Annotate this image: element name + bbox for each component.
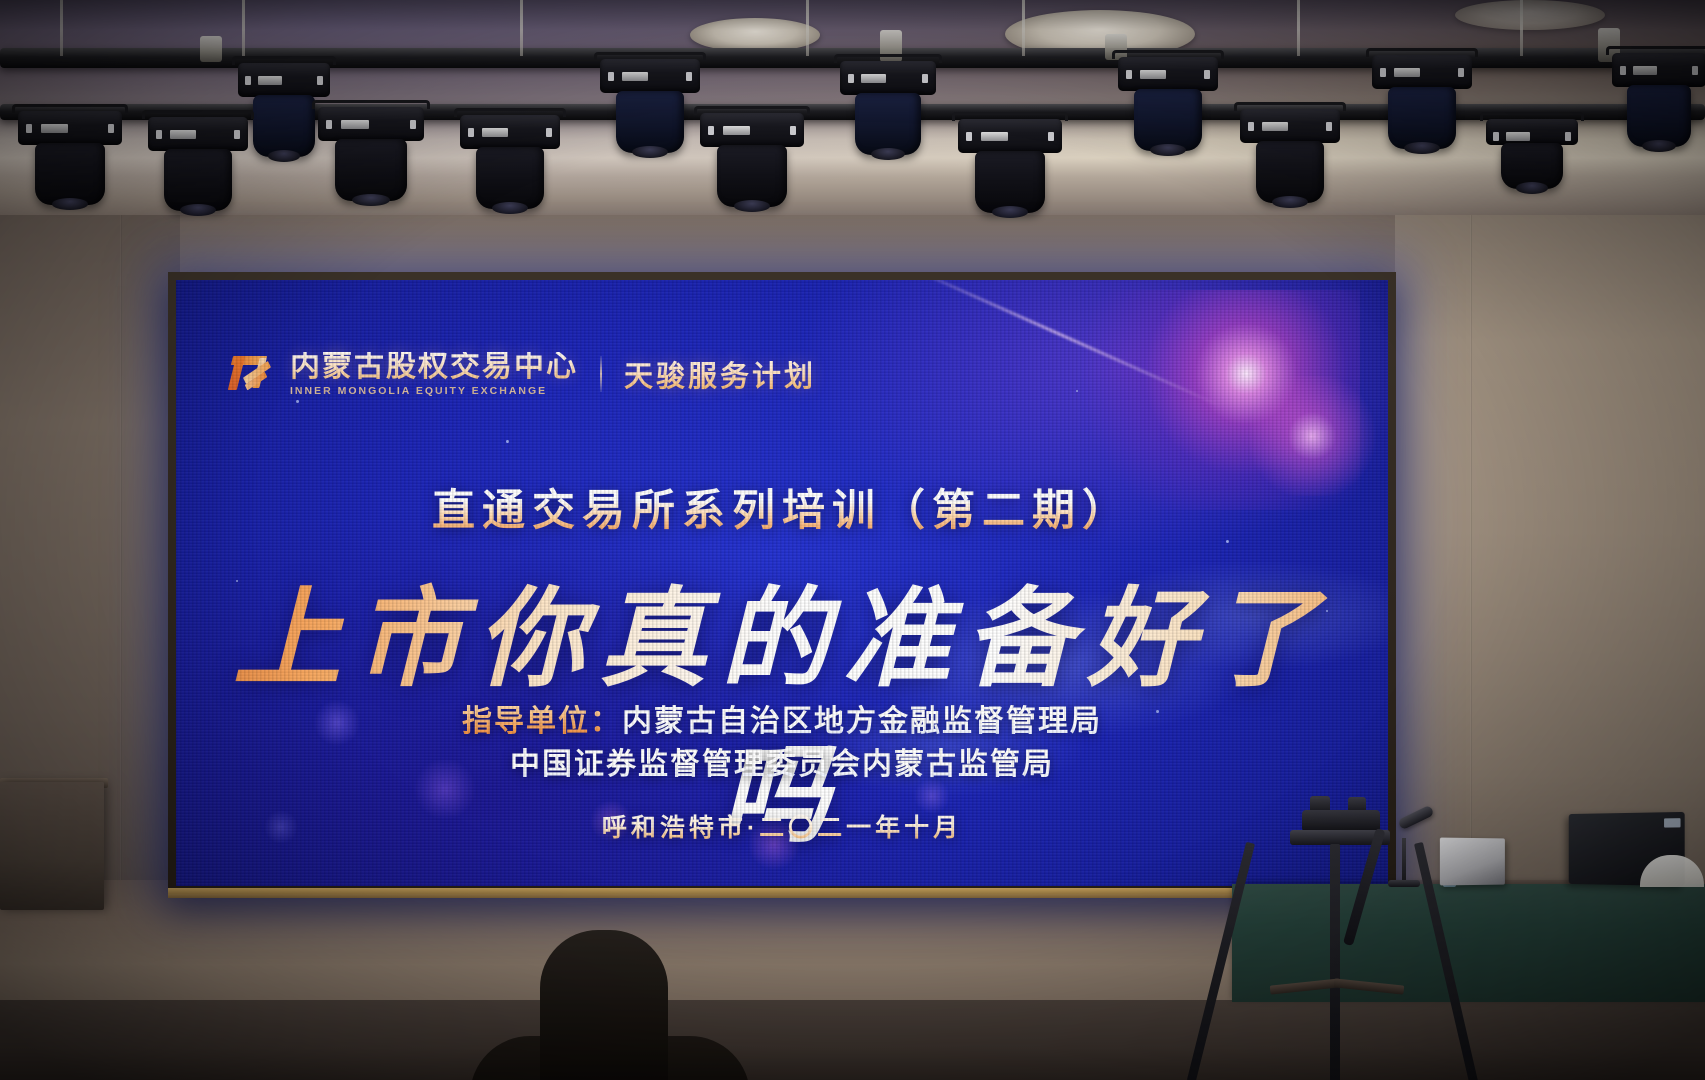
lamp-lens [1516,182,1549,194]
brand-bar: 内蒙古股权交易中心 INNER MONGOLIA EQUITY EXCHANGE… [232,352,816,397]
lamp-head [700,113,804,147]
lamp-body [253,95,316,157]
brand-name-en: INNER MONGOLIA EQUITY EXCHANGE [290,386,578,397]
lamp-display [170,130,196,139]
lamp-lens [1642,140,1675,152]
lamp-knob-left [1493,132,1499,141]
lamp-knob-left [966,132,972,141]
lamp-head [1372,55,1472,89]
lamp-body [1134,89,1202,151]
lamp-body [35,143,106,205]
lamp-body [164,149,232,211]
lamp-lens [1404,142,1439,154]
lamp-knob-right [1692,66,1698,75]
brand-divider [600,356,602,392]
lamp-display [41,124,68,133]
guidance-unit-2: 中国证券监督管理委员会内蒙古监管局 [176,743,1388,786]
lamp-body [1501,143,1564,189]
tripod-pan-handle [1343,828,1386,946]
lamp-knob-left [1126,70,1132,79]
lamp-display [341,120,369,129]
lamp-knob-left [326,120,332,129]
lamp-knob-right [1204,70,1210,79]
screen-content: 内蒙古股权交易中心 INNER MONGOLIA EQUITY EXCHANGE… [176,280,1388,886]
guidance-units: 指导单位：内蒙古自治区地方金融监督管理局 中国证券监督管理委员会内蒙古监管局 [176,700,1388,786]
podium [0,782,104,910]
lamp-body [975,151,1046,213]
lamp-display [1506,132,1530,141]
camera-tripod [1230,810,1450,1080]
hanger-rod-4 [806,0,809,56]
lamp-body [1627,85,1691,147]
lamp-knob-right [1048,132,1054,141]
hanger-rod-2 [242,0,245,56]
lamp-knob-left [1380,68,1386,77]
guidance-line-1: 指导单位：内蒙古自治区地方金融监督管理局 [176,700,1388,743]
lamp-lens [52,198,89,210]
lamp-display [622,72,648,81]
hanger-rod-7 [1520,0,1523,56]
hanger-rod-6 [1297,0,1300,56]
lamp-head [1240,109,1340,143]
lamp-lens [992,206,1029,218]
wall-seam-1 [1470,215,1472,915]
lamp-knob-right [108,124,114,133]
lamp-head [318,107,424,141]
lamp-lens [632,146,667,158]
lamp-head [1486,119,1578,145]
brand-program-name: 天骏服务计划 [624,353,816,395]
lamp-lens [871,148,905,160]
lamp-head [148,117,248,151]
tripod-leg-center [1330,844,1340,1080]
lamp-knob-left [608,72,614,81]
lamp-knob-right [1326,122,1332,131]
lamp-body [476,147,544,209]
lamp-display [1633,66,1657,75]
lamp-head [18,111,122,145]
lamp-knob-left [1248,122,1254,131]
lamp-body [1256,141,1324,203]
lamp-knob-right [686,72,692,81]
lamp-knob-left [26,124,32,133]
lamp-lens [352,194,389,206]
lamp-display [258,76,282,85]
lamp-lens [268,150,301,162]
lamp-display [981,132,1008,141]
lamp-display [1140,70,1166,79]
lamp-lens [734,200,771,212]
tripod-head [1302,810,1380,832]
lamp-head [460,115,560,149]
hanger-rod-3 [520,0,523,56]
screen-gold-trim [168,888,1396,898]
brand-text-block: 内蒙古股权交易中心 INNER MONGOLIA EQUITY EXCHANGE [290,352,578,397]
lamp-knob-right [234,130,240,139]
ceiling-vent-3 [1455,0,1605,30]
truss-clamp-1 [200,36,222,62]
lamp-knob-right [1565,132,1571,141]
lamp-head [600,59,700,93]
lamp-knob-left [156,130,162,139]
lamp-head [238,63,330,97]
lamp-head [840,61,936,95]
lamp-lens [492,202,527,214]
lamp-display [482,128,508,137]
tripod-spreader-right [1334,978,1405,994]
conference-stage-scene: 内蒙古股权交易中心 INNER MONGOLIA EQUITY EXCHANGE… [0,0,1705,1080]
lamp-head [1612,53,1705,87]
wall-seam-2 [120,215,122,915]
lamp-display [1394,68,1420,77]
hanger-rod-1 [60,0,63,56]
lamp-knob-right [410,120,416,129]
lamp-display [723,126,750,135]
lamp-head [1118,57,1218,91]
lamp-knob-left [468,128,474,137]
lamp-display [1262,122,1288,131]
guidance-label: 指导单位： [462,705,622,738]
lamp-display [861,74,886,83]
lamp-lens [1272,196,1307,208]
lamp-knob-left [1620,66,1626,75]
lamp-body [1388,87,1456,149]
lamp-knob-right [1458,68,1464,77]
lamp-lens [180,204,215,216]
guidance-unit-1: 内蒙古自治区地方金融监督管理局 [622,705,1102,738]
led-screen[interactable]: 内蒙古股权交易中心 INNER MONGOLIA EQUITY EXCHANGE… [176,280,1388,886]
lamp-body [616,91,684,153]
lamp-body [335,139,407,201]
imee-arrow-logo-icon [232,354,274,394]
lamp-body [717,145,788,207]
lamp-knob-right [790,126,796,135]
lamp-knob-left [848,74,854,83]
hanger-rod-5 [1022,0,1025,56]
audience-head-silhouette [540,930,668,1080]
training-series-subtitle: 直通交易所系列培训（第二期） [176,476,1388,538]
event-dateline: 呼和浩特市·二〇二一年十月 [176,808,1388,844]
lamp-knob-right [546,128,552,137]
ceiling-vent-1 [690,18,820,52]
brand-name-cn: 内蒙古股权交易中心 [290,352,578,382]
lamp-knob-left [708,126,714,135]
lamp-knob-right [922,74,928,83]
lamp-head [958,119,1062,153]
lamp-knob-left [245,76,251,85]
lamp-lens [1150,144,1185,156]
lamp-body [855,93,920,155]
lamp-knob-right [317,76,323,85]
